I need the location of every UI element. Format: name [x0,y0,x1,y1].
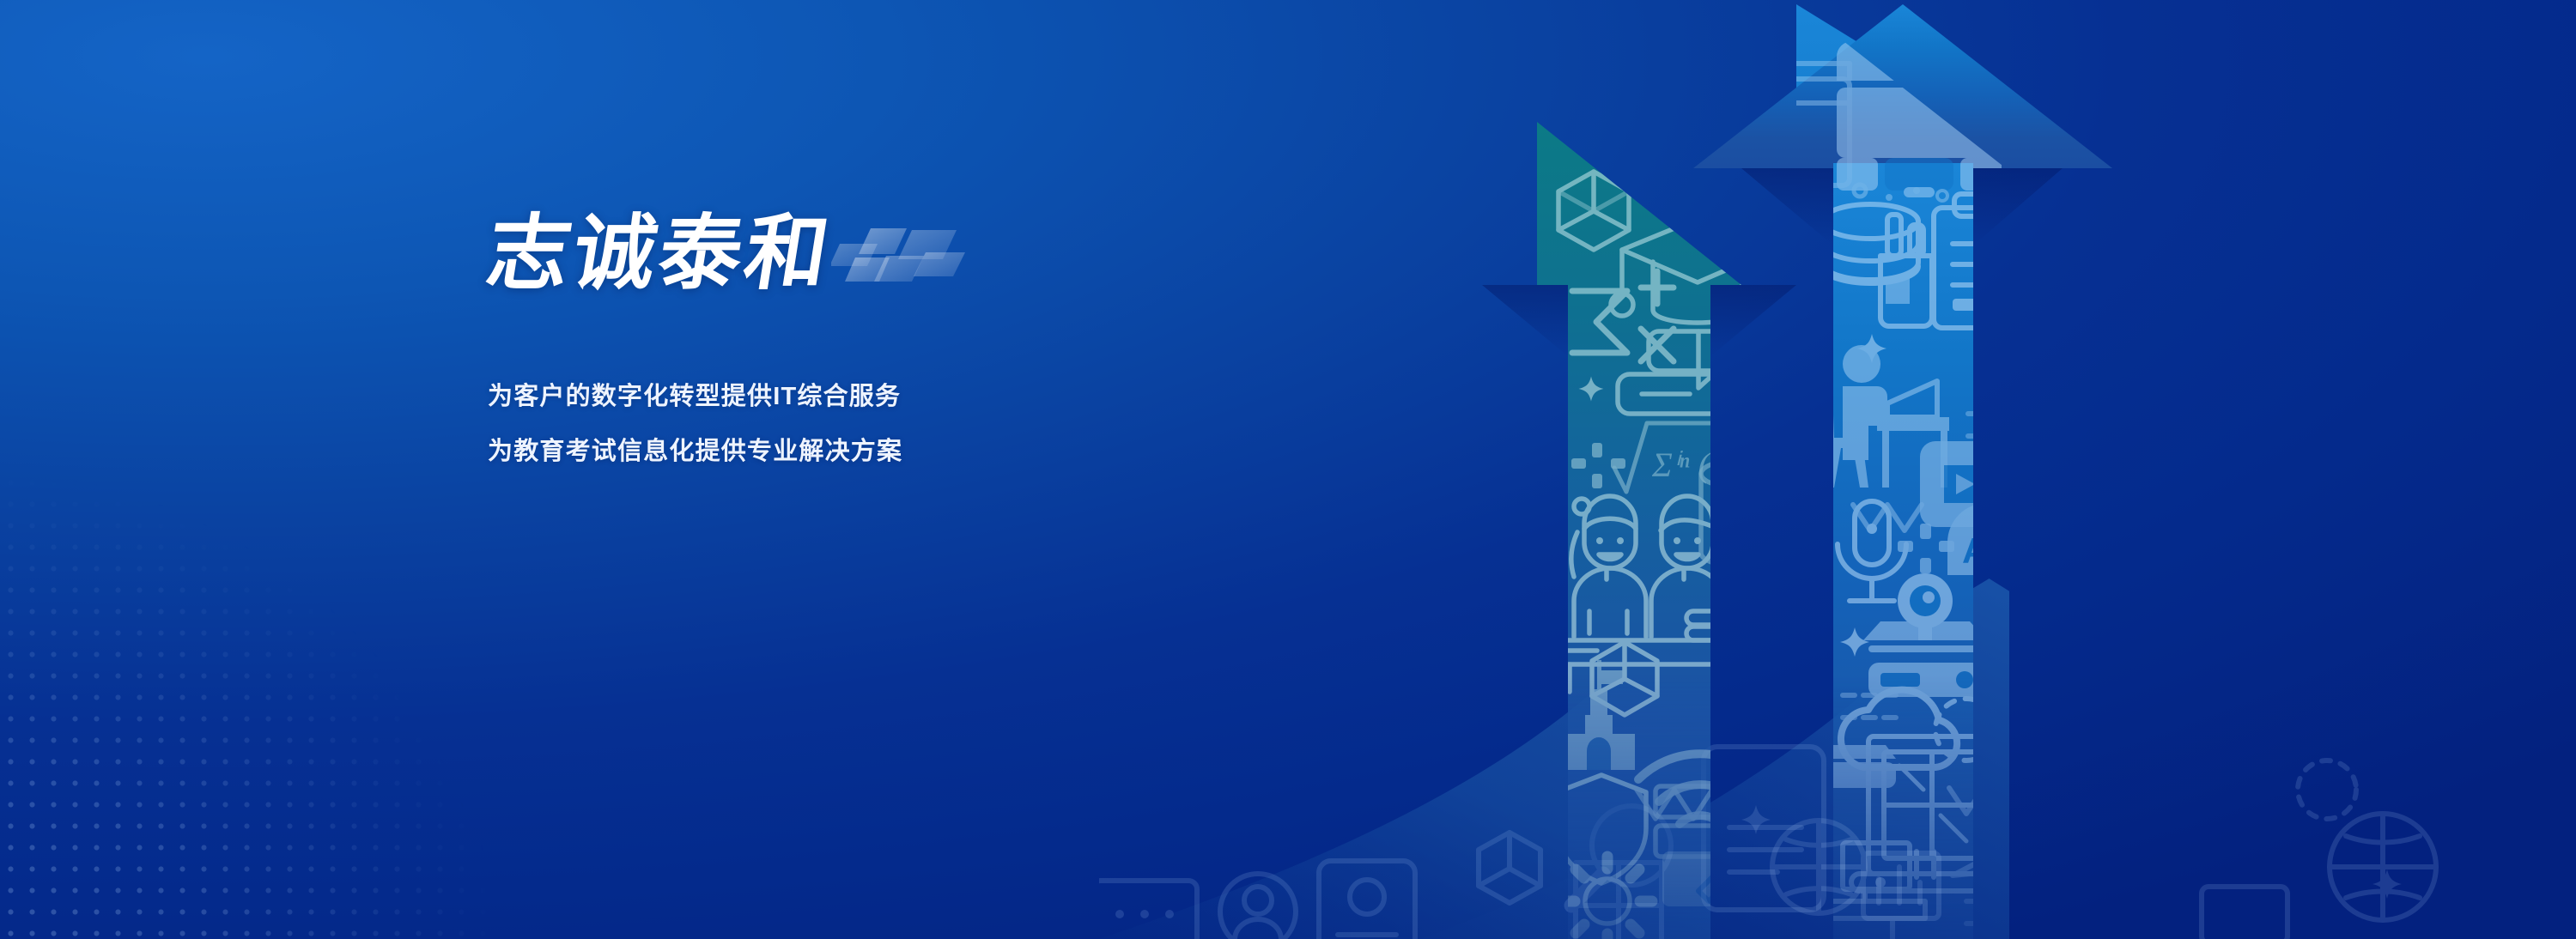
svg-text:Σⁱⁿ (rᵢ - r̄)²/n: Σⁱⁿ (rᵢ - r̄)²/n [1651,445,1819,484]
brand-row: 志诚泰和 [488,203,1261,316]
svg-text:AI: AI [1962,530,1998,571]
tagline-2: 为教育考试信息化提供专业解决方案 [488,424,1261,479]
page-title: 志诚泰和 [479,203,839,306]
arrow-artwork: Σⁱⁿ (rᵢ - r̄)²/n [1099,0,2576,939]
tagline-list: 为客户的数字化转型提供IT综合服务 为教育考试信息化提供专业解决方案 [488,369,1261,479]
parallelogram-logo-icon [831,223,977,287]
tagline-1: 为客户的数字化转型提供IT综合服务 [488,369,1261,424]
hero-copy: 志诚泰和 [488,203,1261,479]
hero-banner: Σⁱⁿ (rᵢ - r̄)²/n [0,0,2576,939]
